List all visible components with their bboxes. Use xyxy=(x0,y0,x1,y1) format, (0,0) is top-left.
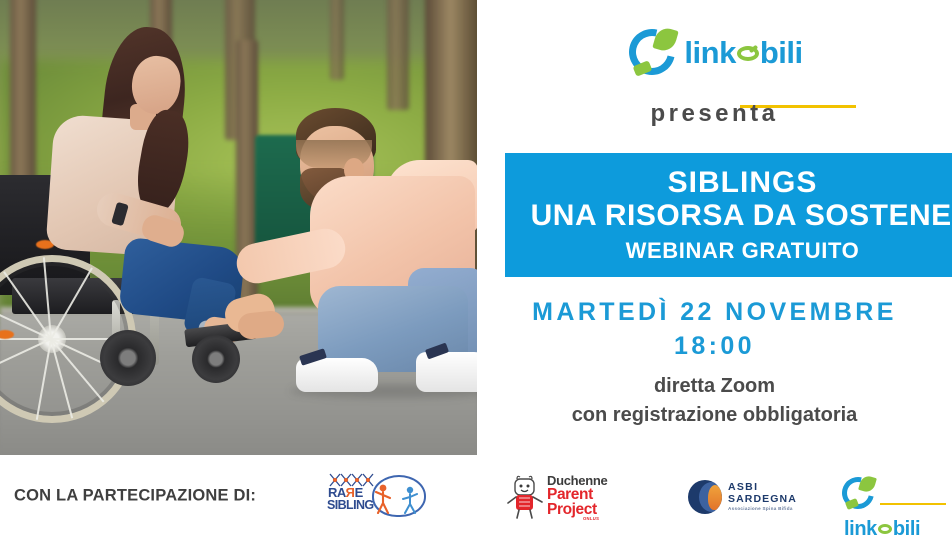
presenta-label: presenta xyxy=(477,100,952,128)
asbi-line2: SARDEGNA xyxy=(728,493,797,505)
duchenne-line4: ONLUS xyxy=(583,516,599,521)
platform-line1: diretta Zoom xyxy=(477,372,952,401)
brand-word-part2: bili xyxy=(893,519,920,536)
wheelchair-caster-wheel xyxy=(192,335,240,383)
duchenne-mascot-icon xyxy=(505,475,545,519)
blue-figure-icon xyxy=(402,486,418,514)
brand-loop-icon xyxy=(737,46,759,61)
brand-word-part2: bili xyxy=(760,37,803,68)
partners-footer: CON LA PARTECIPAZIONE DI: RARE SIBLING xyxy=(0,455,952,536)
banner-subtitle: WEBINAR GRATUITO xyxy=(626,238,860,264)
tree-trunk xyxy=(10,0,36,190)
man-shoe xyxy=(416,352,477,392)
hero-photo xyxy=(0,0,477,455)
partner-logo-linkabili[interactable]: link bili xyxy=(840,475,946,517)
orange-figure-icon xyxy=(375,484,391,514)
event-datetime: MARTEDÌ 22 NOVEMBRE 18:00 xyxy=(477,296,952,364)
platform-line2: con registrazione obbligatoria xyxy=(477,401,952,430)
tree-trunk xyxy=(387,0,409,110)
partner-logo-rare-sibling[interactable]: RARE SIBLING xyxy=(326,472,426,520)
linkabili-footer-wordmark: link bili xyxy=(844,519,920,536)
brand-logo: link bili xyxy=(477,26,952,78)
event-platform-info: diretta Zoom con registrazione obbligato… xyxy=(477,372,952,430)
tree-trunk xyxy=(330,0,344,80)
content-panel: link bili presenta SIBLINGS UNA RISORSA … xyxy=(477,0,952,455)
rare-sibling-name-bottom: SIBLING xyxy=(327,498,374,512)
asbi-mark-icon xyxy=(688,480,722,514)
wheelchair-caster-wheel xyxy=(100,330,156,386)
asbi-tagline: Associazione Spina Bifida xyxy=(728,506,793,511)
participation-label: CON LA PARTECIPAZIONE DI: xyxy=(14,486,256,505)
event-date: MARTEDÌ 22 NOVEMBRE xyxy=(477,296,952,330)
brand-word-part1: link xyxy=(684,37,735,68)
webinar-poster: link bili presenta SIBLINGS UNA RISORSA … xyxy=(0,0,952,536)
brand-word-part1: link xyxy=(844,519,877,536)
event-time: 18:00 xyxy=(477,330,952,364)
banner-title-line1: SIBLINGS xyxy=(668,166,818,199)
banner-title-line2: UNA RISORSA DA SOSTENERE xyxy=(531,199,952,234)
brand-wordmark: link bili xyxy=(684,37,802,68)
brand-loop-icon xyxy=(878,524,892,534)
partner-logo-duchenne-parent-project[interactable]: Duchenne Parent Project ONLUS xyxy=(505,471,615,521)
linkabili-logo-icon xyxy=(626,26,678,78)
partner-logo-asbi-sardegna[interactable]: ASBI SARDEGNA Associazione Spina Bifida xyxy=(688,474,800,518)
title-banner: SIBLINGS UNA RISORSA DA SOSTENERE WEBINA… xyxy=(505,153,952,277)
asbi-line1: ASBI xyxy=(728,481,758,493)
brand-underline xyxy=(880,503,946,505)
asbi-flame-shape xyxy=(708,485,722,510)
linkabili-footer-icon xyxy=(840,475,876,511)
